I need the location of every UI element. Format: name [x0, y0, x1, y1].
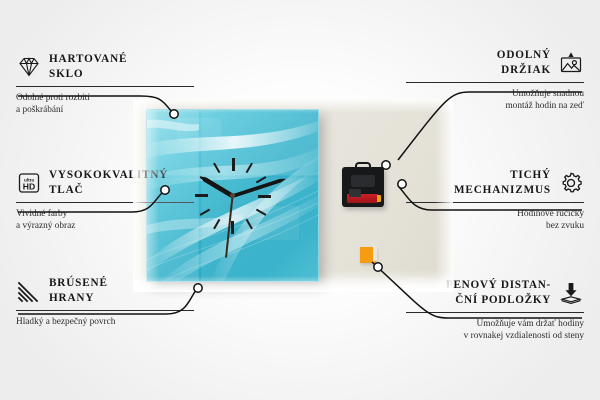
clock-mechanism	[342, 167, 384, 207]
product-photo	[133, 99, 453, 292]
feature-title: HARTOVANÉSKLO	[49, 52, 127, 81]
photo-edge-fade-left	[133, 99, 159, 292]
feature-silent-mechanism: TICHÝMECHANIZMUS Hodinové ručičkybez zvu…	[406, 168, 584, 232]
infographic-canvas: HARTOVANÉSKLO Odolné proti rozbitía pošk…	[0, 0, 600, 400]
photo-edge-fade-right	[435, 99, 453, 292]
feature-title: BRÚSENÉHRANY	[49, 276, 108, 305]
framed-picture-icon	[558, 50, 584, 76]
clock-center-cap	[230, 193, 235, 198]
feature-title: ODOLNÝDRŽIAK	[497, 48, 551, 77]
feature-title: TICHÝMECHANIZMUS	[454, 168, 551, 197]
feature-subtitle: Hodinové ručičkybez zvuku	[406, 208, 584, 232]
feature-divider	[406, 202, 584, 203]
aa-battery	[347, 194, 378, 203]
press-down-pad-icon	[558, 280, 584, 306]
feature-title: PENOVÝ DISTAN-ČNÍ PODLOŽKY	[446, 278, 551, 307]
svg-text:HD: HD	[23, 181, 35, 191]
feature-header: HARTOVANÉSKLO	[16, 52, 194, 81]
feature-subtitle: Hladký a bezpečný povrch	[16, 316, 194, 328]
diagonal-stripes-icon	[16, 278, 42, 304]
feature-divider	[16, 310, 194, 311]
wall-clock	[146, 109, 319, 282]
diamond-icon	[16, 54, 42, 80]
photo-edge-fade-top	[133, 99, 453, 113]
ultra-hd-badge-icon: ultra HD	[16, 170, 42, 196]
gear-icon	[558, 170, 584, 196]
feature-divider	[16, 86, 194, 87]
feature-header: TICHÝMECHANIZMUS	[406, 168, 584, 197]
photo-edge-fade-bottom	[133, 276, 453, 292]
feature-subtitle: Umožňuje vám držať hodinyv rovnakej vzdi…	[406, 318, 584, 342]
feature-divider	[406, 82, 584, 83]
feature-divider	[406, 312, 584, 313]
feature-header: ODOLNÝDRŽIAK	[406, 48, 584, 77]
foam-spacer-pad	[360, 247, 376, 263]
mechanism-body	[342, 167, 384, 207]
